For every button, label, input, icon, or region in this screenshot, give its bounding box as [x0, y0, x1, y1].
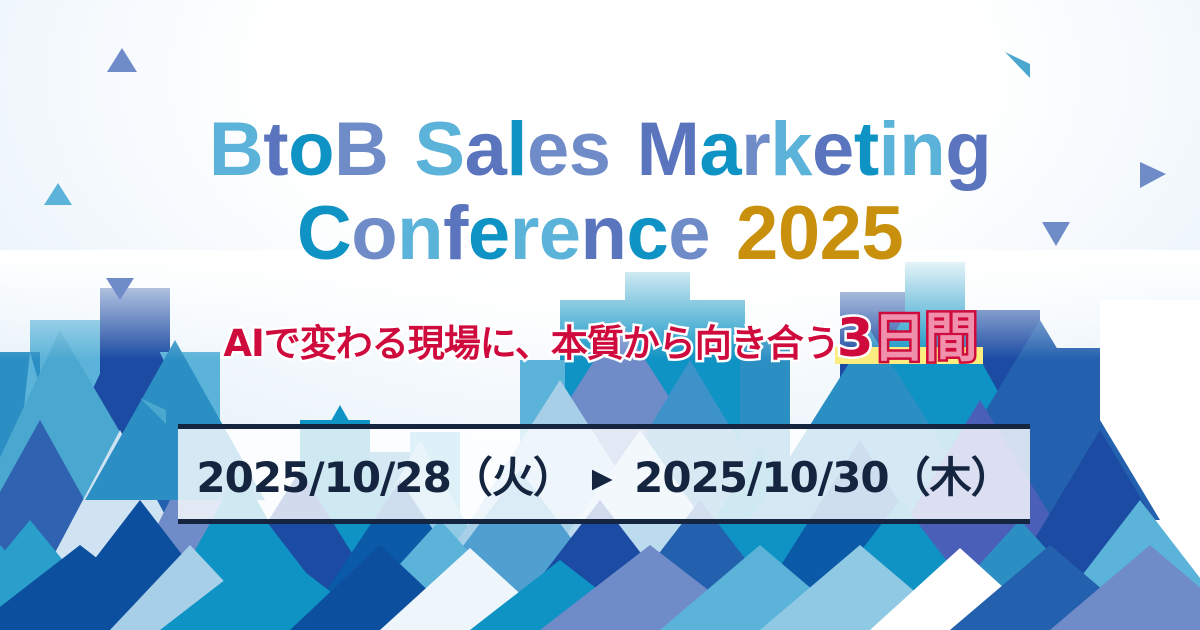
title-letter: r: [510, 196, 539, 272]
title-letter: e: [527, 112, 569, 188]
title-letter: S: [414, 112, 464, 188]
title-letter: r: [741, 112, 770, 188]
title-letter: 2: [820, 196, 862, 272]
title-letter: t: [263, 112, 288, 188]
title-letter: a: [699, 112, 741, 188]
title-letter: C: [297, 196, 351, 272]
title-letter: 0: [778, 196, 820, 272]
title-letter: k: [770, 112, 812, 188]
title-letter: e: [468, 196, 510, 272]
title-letter: s: [569, 112, 611, 188]
days-number: 3: [837, 308, 873, 369]
title-letter: 2: [736, 196, 778, 272]
title-letter: e: [539, 196, 581, 272]
title-line-1: BtoBSalesMarketing: [0, 112, 1200, 188]
triangle-left-icon: [140, 398, 166, 424]
date-band: 2025/10/28（火）▶2025/10/30（木）: [178, 424, 1030, 524]
days-badge: 3日間: [837, 312, 977, 365]
title-letter: B: [334, 112, 388, 188]
title-letter: o: [288, 112, 334, 188]
title-letter: n: [581, 196, 627, 272]
title-letter: 5: [861, 196, 903, 272]
title-letter: i: [879, 112, 900, 188]
title-letter: e: [812, 112, 854, 188]
title-letter: e: [668, 196, 710, 272]
title-letter: n: [899, 112, 945, 188]
title-letter: t: [854, 112, 879, 188]
title-letter: l: [506, 112, 527, 188]
date-end: 2025/10/30（木）: [634, 453, 1011, 502]
date-range-text: 2025/10/28（火）▶2025/10/30（木）: [196, 444, 1011, 505]
title-letter: n: [397, 196, 443, 272]
subtitle-row: AIで変わる現場に、本質から向き合う 3日間: [0, 312, 1200, 365]
title-letter: a: [465, 112, 507, 188]
title-letter: o: [351, 196, 397, 272]
event-banner: BtoBSalesMarketing Conference2025 AIで変わる…: [0, 0, 1200, 630]
title-letter: c: [626, 196, 668, 272]
subtitle-text: AIで変わる現場に、本質から向き合う: [223, 325, 838, 362]
arrow-right-icon: ▶: [592, 463, 612, 494]
triangle-down-icon: [106, 278, 134, 300]
title-letter: g: [945, 112, 991, 188]
title-letter: f: [443, 196, 468, 272]
days-unit-label: 日間: [873, 308, 977, 369]
triangle-left-icon: [1005, 52, 1030, 78]
date-start: 2025/10/28（火）: [196, 453, 573, 502]
triangle-up-icon: [107, 48, 137, 72]
title-letter: B: [209, 112, 263, 188]
title-letter: M: [637, 112, 700, 188]
title-line-2: Conference2025: [0, 196, 1200, 272]
